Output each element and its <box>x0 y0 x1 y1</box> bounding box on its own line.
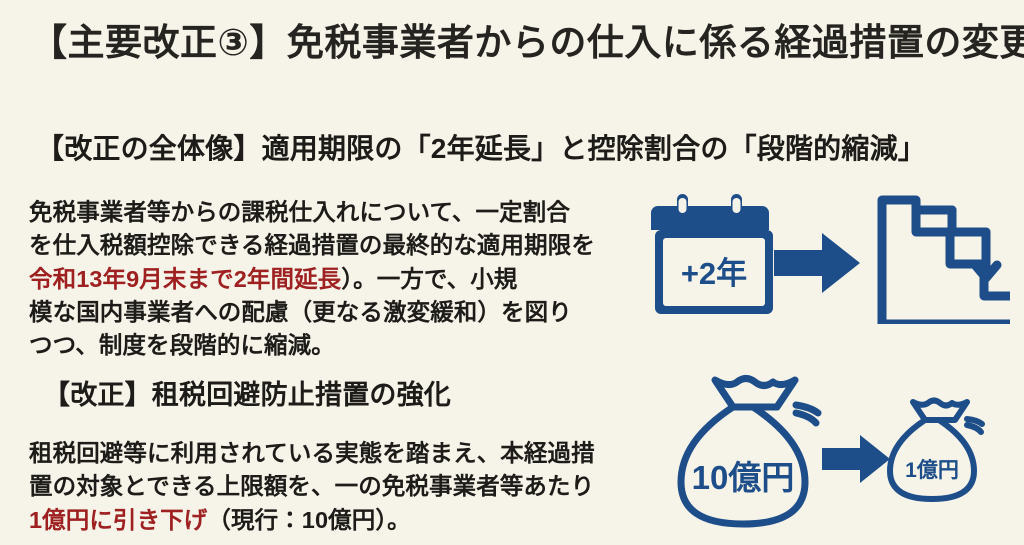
extension-illustration: +2年 <box>650 192 1010 324</box>
body-line: 免税事業者等からの課税仕入れについて、一定割合 <box>29 196 641 229</box>
cap-reduction-illustration: 10億円 1億円 <box>660 372 1016 540</box>
body-line-tail: （現行：10億円）。 <box>207 507 410 533</box>
highlight-cap-reduction: 1億円に引き下げ <box>29 507 207 533</box>
money-bag-small-label: 1億円 <box>905 459 959 482</box>
highlight-extension-deadline: 令和13年9月末まで2年間延長 <box>29 266 341 292</box>
section-overview-heading: 【改正の全体像】適用期限の「2年延長」と控除割合の「段階的縮減」 <box>36 131 926 167</box>
body-line: つつ、制度を段階的に縮減。 <box>29 329 641 362</box>
body-line: 租税回避等に利用されている実態を踏まえ、本経過措 <box>29 437 641 470</box>
body-line-highlighted: 1億円に引き下げ（現行：10億円）。 <box>29 504 641 537</box>
body-line: 模な国内事業者への配慮（更なる激変緩和）を図り <box>29 296 641 329</box>
right-arrow-icon <box>774 233 860 293</box>
body-line: を仕入税額控除できる経過措置の最終的な適用期限を <box>29 229 641 262</box>
section-anti-avoidance-heading: 【改正】租税回避防止措置の強化 <box>43 378 451 413</box>
money-bag-large-icon <box>681 379 818 525</box>
money-bag-small-icon <box>890 401 982 500</box>
body-line: 置の対象とできる上限額を、一の免税事業者等あたり <box>29 470 641 503</box>
body-line-tail: ）。一方で、小規 <box>341 266 517 292</box>
money-bag-large-label: 10億円 <box>692 459 795 496</box>
section-overview-body: 免税事業者等からの課税仕入れについて、一定割合 を仕入税額控除できる経過措置の最… <box>29 196 641 363</box>
section-anti-avoidance-body: 租税回避等に利用されている実態を踏まえ、本経過措 置の対象とできる上限額を、一の… <box>29 437 641 537</box>
calendar-plus-two-years-icon: +2年 <box>651 194 773 314</box>
right-arrow-icon <box>822 435 890 483</box>
slide-root: 【主要改正③】免税事業者からの仕入に係る経過措置の変更 【改正の全体像】適用期限… <box>0 0 1024 545</box>
calendar-label: +2年 <box>681 256 747 291</box>
body-line-highlighted: 令和13年9月末まで2年間延長）。一方で、小規 <box>29 263 641 296</box>
page-title: 【主要改正③】免税事業者からの仕入に係る経過措置の変更 <box>30 20 1010 65</box>
descending-stairs-icon <box>882 200 1010 324</box>
